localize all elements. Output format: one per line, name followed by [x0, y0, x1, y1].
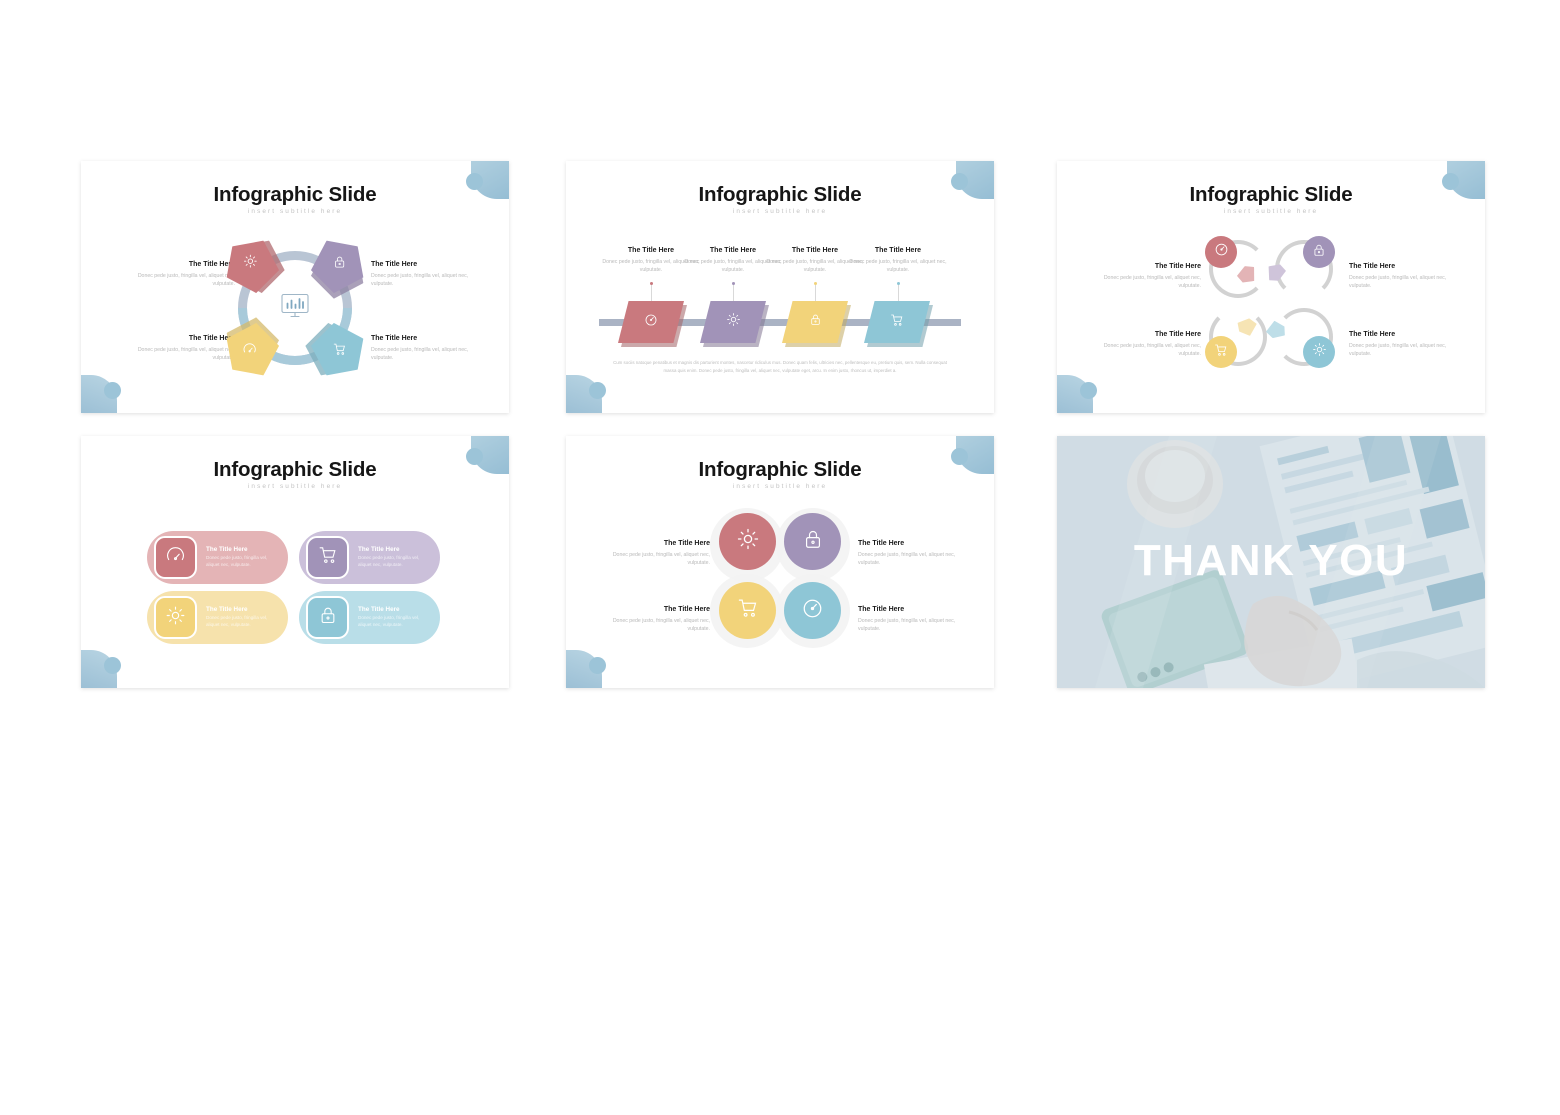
decorative-blob-bottom-left — [81, 367, 135, 413]
slide-thumbnail-5[interactable]: Infographic Slide insert subtitle here T… — [566, 436, 994, 688]
slide-thumbnail-2[interactable]: Infographic Slide insert subtitle here T… — [566, 161, 994, 413]
lock-icon — [809, 313, 822, 331]
circle-bottom-left[interactable] — [719, 582, 776, 639]
speedometer-icon — [644, 313, 658, 332]
pentagon-loop-diagram — [228, 241, 362, 375]
slide-title: Infographic Slide — [81, 458, 509, 482]
item-text-top-right: The Title Here Donec pede justo, fringil… — [371, 261, 469, 289]
slide-gallery: Infographic Slide insert subtitle here T… — [0, 0, 1560, 1115]
speedometer-icon — [1214, 242, 1229, 262]
sun-icon — [1312, 342, 1327, 362]
speedometer-icon — [801, 597, 824, 625]
item-body: Donec pede justo, fringilla vel, aliquet… — [358, 615, 432, 629]
decorative-blob-top-right — [942, 161, 994, 207]
decorative-blob-bottom-left — [81, 642, 135, 688]
pill-icon-box — [154, 596, 197, 639]
bubble-top-left[interactable] — [1205, 236, 1237, 268]
overlapping-circles-diagram — [710, 508, 850, 648]
pill-icon-box — [306, 596, 349, 639]
pill-card-top-left[interactable]: The Title Here Donec pede justo, fringil… — [147, 531, 288, 584]
item-body: Donec pede justo, fringilla vel, aliquet… — [371, 272, 469, 289]
sun-icon — [165, 605, 186, 631]
thank-you-heading: THANK YOU — [1057, 536, 1485, 586]
speedometer-icon — [243, 342, 258, 362]
ribbon-4[interactable] — [864, 301, 930, 343]
connector-3 — [815, 283, 816, 301]
slide-subtitle: insert subtitle here — [1057, 208, 1485, 215]
decorative-blob-bottom-left — [566, 367, 620, 413]
item-title: The Title Here — [371, 335, 469, 343]
item-title: The Title Here — [858, 540, 956, 548]
slide-title: Infographic Slide — [566, 458, 994, 482]
item-text-top-right: The Title Here Donec pede justo, fringil… — [858, 540, 956, 568]
item-text-bottom-right: The Title Here Donec pede justo, fringil… — [858, 606, 956, 634]
item-title: The Title Here — [371, 261, 469, 269]
lock-icon — [318, 605, 338, 630]
item-text-bottom-right: The Title Here Donec pede justo, fringil… — [371, 335, 469, 363]
decorative-blob-bottom-left — [1057, 367, 1111, 413]
item-text-bottom-left: The Title Here Donec pede justo, fringil… — [1103, 331, 1201, 359]
item-body: Donec pede justo, fringilla vel, aliquet… — [137, 272, 235, 289]
item-title: The Title Here — [1349, 263, 1447, 271]
item-body: Donec pede justo, fringilla vel, aliquet… — [358, 555, 432, 569]
item-title: The Title Here — [858, 606, 956, 614]
speedometer-icon — [165, 545, 186, 571]
pill-card-bottom-left[interactable]: The Title Here Donec pede justo, fringil… — [147, 591, 288, 644]
item-body: Donec pede justo, fringilla vel, aliquet… — [1349, 274, 1447, 291]
sun-icon — [736, 527, 760, 556]
decorative-blob-top-right — [457, 436, 509, 482]
slide-title: Infographic Slide — [1057, 183, 1485, 207]
item-title: The Title Here — [206, 606, 280, 613]
item-body: Donec pede justo, fringilla vel, aliquet… — [1103, 274, 1201, 291]
connector-4 — [898, 283, 899, 301]
item-text-top-left: The Title Here Donec pede justo, fringil… — [1103, 263, 1201, 291]
cart-icon — [318, 545, 338, 570]
decorative-blob-top-right — [1433, 161, 1485, 207]
cart-icon — [1214, 343, 1228, 362]
cart-icon — [890, 313, 904, 332]
item-title: The Title Here — [849, 247, 947, 255]
item-text-bottom-right: The Title Here Donec pede justo, fringil… — [1349, 331, 1447, 359]
item-title: The Title Here — [206, 546, 280, 553]
lock-icon — [333, 255, 347, 274]
bubble-bottom-right[interactable] — [1303, 336, 1335, 368]
slide-thumbnail-4[interactable]: Infographic Slide insert subtitle here T… — [81, 436, 509, 688]
item-text-4: The Title Here Donec pede justo, fringil… — [849, 247, 947, 275]
ribbon-3[interactable] — [782, 301, 848, 343]
connector-2 — [733, 283, 734, 301]
slide-title: Infographic Slide — [566, 183, 994, 207]
lock-icon — [802, 528, 824, 555]
item-body: Donec pede justo, fringilla vel, aliquet… — [206, 615, 280, 629]
sun-icon — [243, 254, 258, 274]
connector-dot-3 — [814, 282, 817, 285]
slide-thumbnail-3[interactable]: Infographic Slide insert subtitle here T… — [1057, 161, 1485, 413]
item-title: The Title Here — [612, 540, 710, 548]
pill-icon-box — [306, 536, 349, 579]
item-title: The Title Here — [1103, 331, 1201, 339]
item-body: Donec pede justo, fringilla vel, aliquet… — [612, 551, 710, 568]
connector-dot-2 — [732, 282, 735, 285]
circle-top-left[interactable] — [719, 513, 776, 570]
pill-card-bottom-right[interactable]: The Title Here Donec pede justo, fringil… — [299, 591, 440, 644]
connector-dot-4 — [897, 282, 900, 285]
item-body: Donec pede justo, fringilla vel, aliquet… — [371, 346, 469, 363]
item-text-top-right: The Title Here Donec pede justo, fringil… — [1349, 263, 1447, 291]
item-body: Donec pede justo, fringilla vel, aliquet… — [849, 258, 947, 275]
item-text-top-left: The Title Here Donec pede justo, fringil… — [612, 540, 710, 568]
lock-icon — [1312, 243, 1326, 262]
item-title: The Title Here — [1349, 331, 1447, 339]
slide-subtitle: insert subtitle here — [81, 208, 509, 215]
slide-subtitle: insert subtitle here — [81, 483, 509, 490]
ribbon-1[interactable] — [618, 301, 684, 343]
slide-thumbnail-1[interactable]: Infographic Slide insert subtitle here T… — [81, 161, 509, 413]
pill-icon-box — [154, 536, 197, 579]
item-body: Donec pede justo, fringilla vel, aliquet… — [612, 617, 710, 634]
item-title: The Title Here — [358, 546, 432, 553]
item-title: The Title Here — [137, 335, 235, 343]
slide-paragraph: Cum sociis natoque penatibus et magnis d… — [608, 359, 952, 375]
connector-1 — [651, 283, 652, 301]
item-body: Donec pede justo, fringilla vel, aliquet… — [858, 617, 956, 634]
bubble-top-right[interactable] — [1303, 236, 1335, 268]
quad-arc-diagram — [1205, 236, 1337, 376]
item-title: The Title Here — [1103, 263, 1201, 271]
slide-title: Infographic Slide — [81, 183, 509, 207]
item-title: The Title Here — [358, 606, 432, 613]
circle-top-right[interactable] — [784, 513, 841, 570]
pill-card-top-right[interactable]: The Title Here Donec pede justo, fringil… — [299, 531, 440, 584]
connector-dot-1 — [650, 282, 653, 285]
item-body: Donec pede justo, fringilla vel, aliquet… — [1349, 342, 1447, 359]
decorative-blob-top-right — [457, 161, 509, 207]
slide-subtitle: insert subtitle here — [566, 208, 994, 215]
decorative-blob-top-right — [942, 436, 994, 482]
decorative-blob-bottom-left — [566, 642, 620, 688]
slide-subtitle: insert subtitle here — [566, 483, 994, 490]
item-text-bottom-left: The Title Here Donec pede justo, fringil… — [612, 606, 710, 634]
dashboard-monitor-icon — [280, 293, 310, 324]
item-title: The Title Here — [612, 606, 710, 614]
item-body: Donec pede justo, fringilla vel, aliquet… — [858, 551, 956, 568]
item-body: Donec pede justo, fringilla vel, aliquet… — [206, 555, 280, 569]
circle-bottom-right[interactable] — [784, 582, 841, 639]
bubble-bottom-left[interactable] — [1205, 336, 1237, 368]
ribbon-2[interactable] — [700, 301, 766, 343]
slide-thumbnail-6[interactable]: THANK YOU — [1057, 436, 1485, 688]
item-body: Donec pede justo, fringilla vel, aliquet… — [1103, 342, 1201, 359]
sun-icon — [726, 312, 741, 332]
cart-icon — [737, 597, 759, 624]
cart-icon — [333, 343, 347, 362]
